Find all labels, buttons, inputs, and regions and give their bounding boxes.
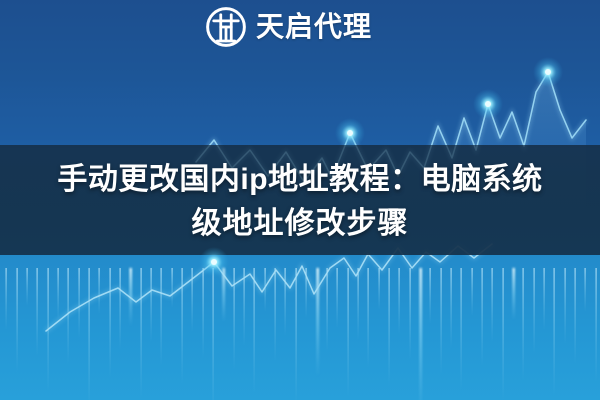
glow-node-core (347, 130, 353, 136)
glow-node-core (211, 259, 217, 265)
headline-line-1: 手动更改国内ip地址教程：电脑系统 (14, 158, 586, 202)
brand-name: 天启代理 (256, 6, 372, 48)
glow-node-core (545, 69, 551, 75)
glow-node-core (485, 101, 491, 107)
brand-logo[interactable]: 天启代理 (205, 6, 372, 48)
headline: 手动更改国内ip地址教程：电脑系统 级地址修改步骤 (0, 158, 600, 246)
headline-line-2: 级地址修改步骤 (14, 202, 586, 246)
tianqi-monogram-circle-icon (205, 6, 247, 48)
banner-canvas: 天启代理 手动更改国内ip地址教程：电脑系统 级地址修改步骤 (0, 0, 600, 400)
